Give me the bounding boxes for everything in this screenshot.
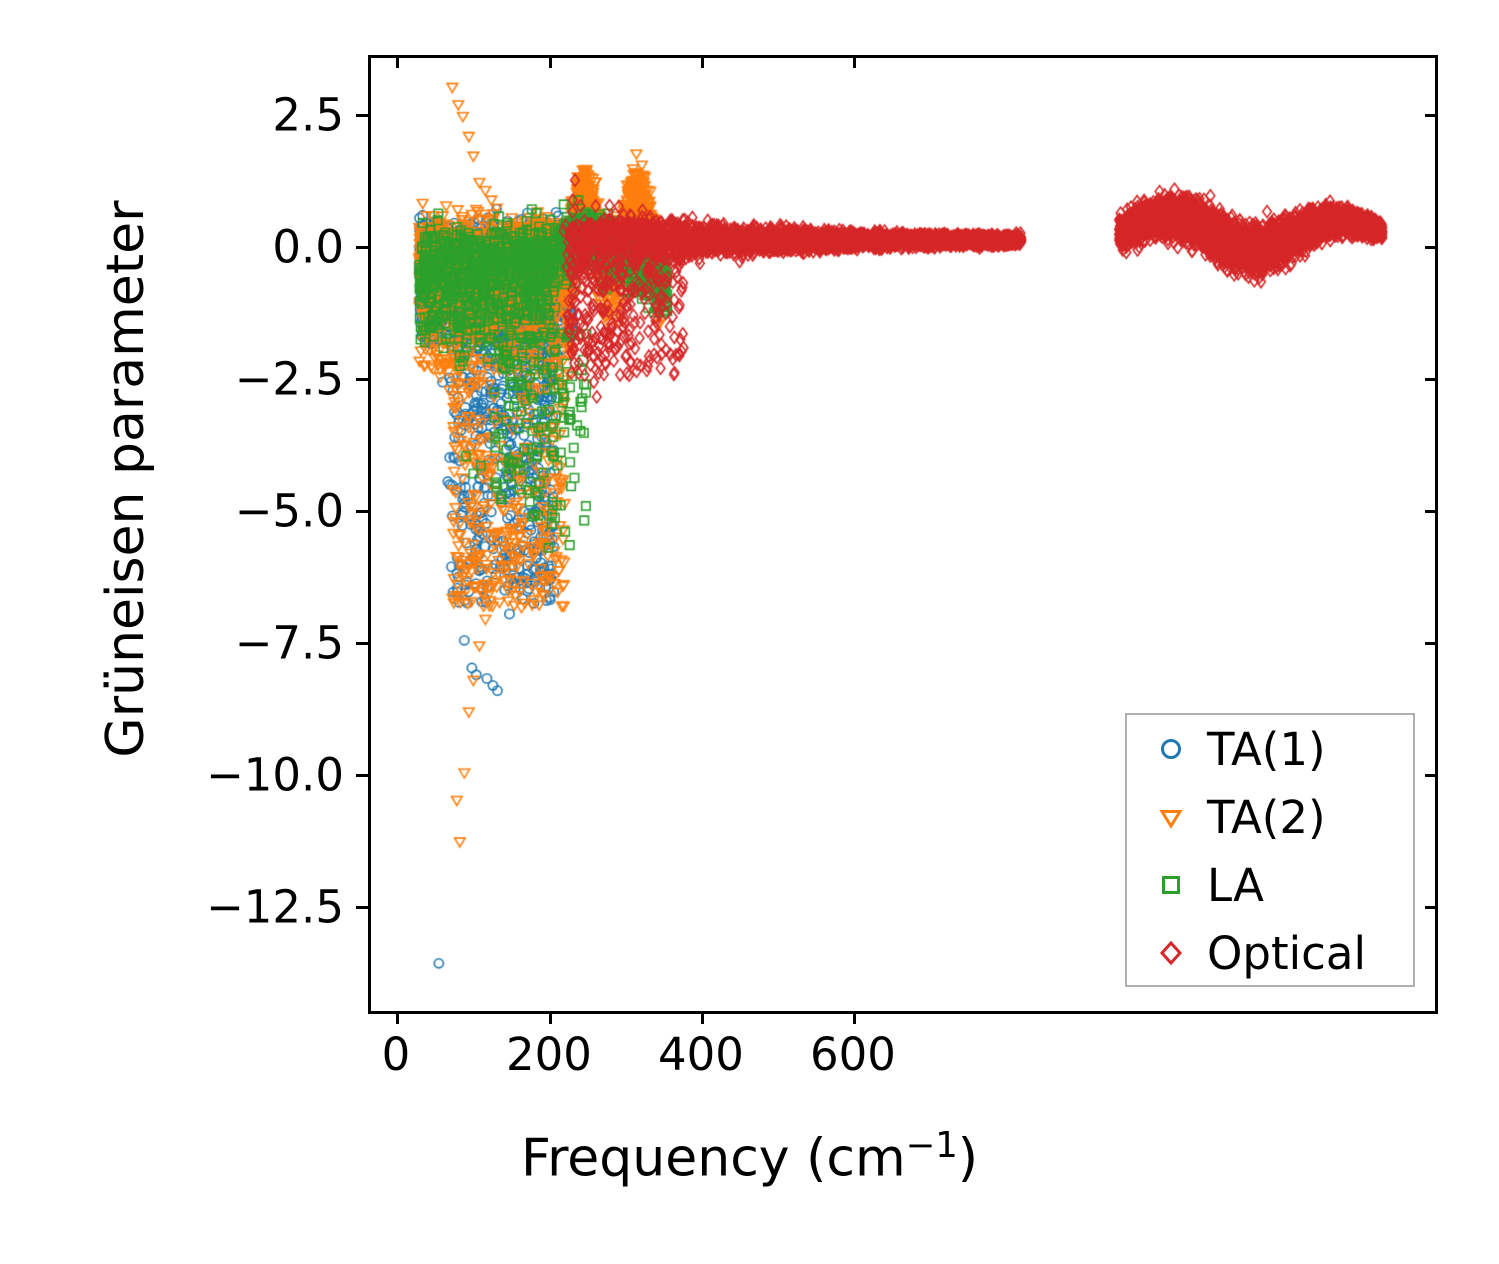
square-marker-icon <box>1135 870 1207 900</box>
x-ticklabel-400: 400 <box>658 1032 744 1077</box>
x-ticklabel-0: 0 <box>382 1032 411 1077</box>
y-ticklabel--12.5: −12.5 <box>206 885 344 930</box>
legend-entry-la[interactable]: LA <box>1127 851 1413 919</box>
x-ticklabel-200: 200 <box>506 1032 592 1077</box>
legend-label-la: LA <box>1207 863 1264 908</box>
y-axis-label: Grüneisen parameter <box>96 0 156 1014</box>
y-tick-right--7.5 <box>1425 642 1438 645</box>
x-axis-label-tail: ) <box>958 1128 978 1188</box>
legend-entry-optical[interactable]: Optical <box>1127 919 1413 987</box>
legend-entry-ta2[interactable]: TA(2) <box>1127 783 1413 851</box>
figure-scatter-plot: 0 200 400 600 2.5 0.0 −2.5 −5.0 −7.5 −10… <box>0 0 1499 1264</box>
circle-marker-icon <box>1135 734 1207 764</box>
legend-label-ta1: TA(1) <box>1207 727 1326 772</box>
x-axis-label-main: Frequency (cm <box>521 1128 906 1188</box>
x-tick-0 <box>396 1011 399 1024</box>
y-ticklabel--10.0: −10.0 <box>206 753 344 798</box>
y-tick-right--10.0 <box>1425 774 1438 777</box>
x-tick-400 <box>701 1011 704 1024</box>
y-tick-right-2.5 <box>1425 114 1438 117</box>
x-tick-top-600 <box>853 55 856 68</box>
legend-label-optical: Optical <box>1207 931 1366 976</box>
y-tick-right--5.0 <box>1425 510 1438 513</box>
y-tick--10.0 <box>356 774 369 777</box>
y-tick-0.0 <box>356 246 369 249</box>
y-tick--5.0 <box>356 510 369 513</box>
x-axis-label: Frequency (cm−1) <box>0 1125 1499 1188</box>
y-ticklabel--2.5: −2.5 <box>235 357 344 402</box>
y-tick--12.5 <box>356 906 369 909</box>
x-tick-200 <box>549 1011 552 1024</box>
x-tick-top-200 <box>549 55 552 68</box>
y-tick-right--12.5 <box>1425 906 1438 909</box>
x-tick-600 <box>853 1011 856 1024</box>
y-tick-right-0.0 <box>1425 246 1438 249</box>
legend: TA(1) TA(2) LA Optical <box>1125 713 1415 987</box>
y-tick--2.5 <box>356 378 369 381</box>
legend-label-ta2: TA(2) <box>1207 795 1326 840</box>
x-ticklabel-600: 600 <box>810 1032 896 1077</box>
x-axis-label-exponent: −1 <box>906 1125 958 1166</box>
y-ticklabel-0.0: 0.0 <box>272 225 344 270</box>
y-ticklabel--5.0: −5.0 <box>235 489 344 534</box>
y-ticklabel-2.5: 2.5 <box>272 93 344 138</box>
triangle-down-marker-icon <box>1135 802 1207 832</box>
x-tick-top-400 <box>701 55 704 68</box>
y-tick-right--2.5 <box>1425 378 1438 381</box>
legend-entry-ta1[interactable]: TA(1) <box>1127 715 1413 783</box>
y-tick--7.5 <box>356 642 369 645</box>
x-tick-top-0 <box>396 55 399 68</box>
y-tick-2.5 <box>356 114 369 117</box>
y-ticklabel--7.5: −7.5 <box>235 621 344 666</box>
diamond-marker-icon <box>1135 938 1207 968</box>
